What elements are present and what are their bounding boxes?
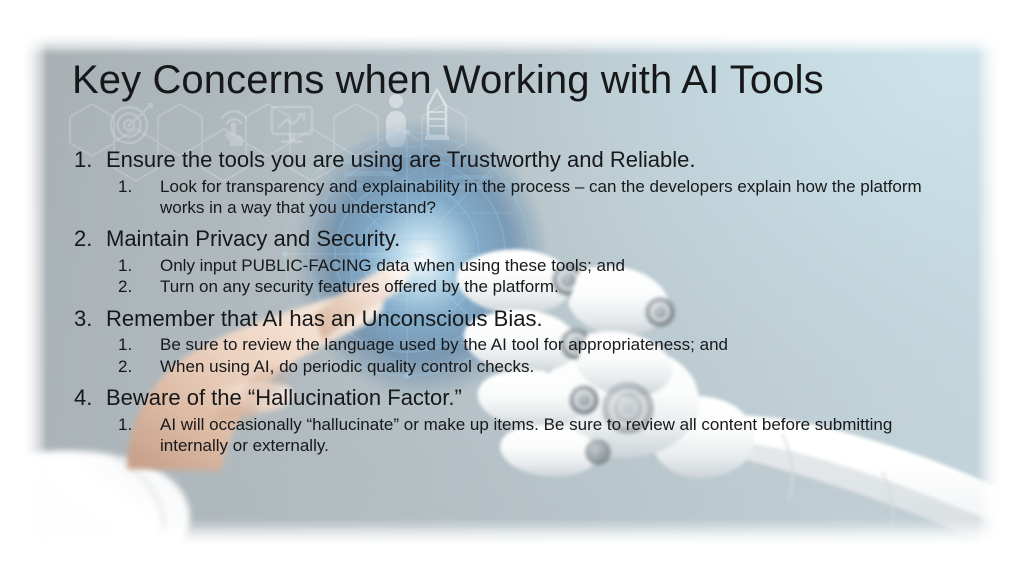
list-item-level2: 1. AI will occasionally “hallucinate” or…	[60, 414, 970, 457]
list-item-level2: 2. When using AI, do periodic quality co…	[60, 356, 970, 377]
outline-group: 2. Maintain Privacy and Security. 1. Onl…	[60, 225, 970, 297]
list-text: Ensure the tools you are using are Trust…	[106, 146, 695, 175]
list-number: 2.	[60, 356, 160, 377]
list-item-level1: 1. Ensure the tools you are using are Tr…	[60, 146, 970, 175]
list-item-level2: 1. Only input PUBLIC-FACING data when us…	[60, 255, 970, 276]
list-text: Turn on any security features offered by…	[160, 276, 559, 297]
list-number: 1.	[60, 414, 160, 435]
list-text: Maintain Privacy and Security.	[106, 225, 400, 254]
list-item-level2: 1. Look for transparency and explainabil…	[60, 176, 970, 219]
slide-text-layer: Key Concerns when Working with AI Tools …	[0, 0, 1024, 576]
list-number: 2.	[60, 225, 106, 254]
outline-group: 3. Remember that AI has an Unconscious B…	[60, 305, 970, 377]
list-number: 1.	[60, 334, 160, 355]
list-item-level2: 1. Be sure to review the language used b…	[60, 334, 970, 355]
page-title: Key Concerns when Working with AI Tools	[72, 58, 952, 103]
list-number: 2.	[60, 276, 160, 297]
outline-group: 4. Beware of the “Hallucination Factor.”…	[60, 384, 970, 456]
content-outline: 1. Ensure the tools you are using are Tr…	[60, 146, 970, 457]
list-item-level1: 2. Maintain Privacy and Security.	[60, 225, 970, 254]
list-number: 1.	[60, 255, 160, 276]
list-text: AI will occasionally “hallucinate” or ma…	[160, 414, 950, 457]
list-text: Look for transparency and explainability…	[160, 176, 950, 219]
presentation-slide: Key Concerns when Working with AI Tools …	[0, 0, 1024, 576]
list-item-level2: 2. Turn on any security features offered…	[60, 276, 970, 297]
list-number: 1.	[60, 176, 160, 197]
list-text: Only input PUBLIC-FACING data when using…	[160, 255, 625, 276]
list-text: When using AI, do periodic quality contr…	[160, 356, 534, 377]
list-item-level1: 4. Beware of the “Hallucination Factor.”	[60, 384, 970, 413]
list-number: 3.	[60, 305, 106, 334]
list-number: 1.	[60, 146, 106, 175]
list-text: Remember that AI has an Unconscious Bias…	[106, 305, 543, 334]
outline-group: 1. Ensure the tools you are using are Tr…	[60, 146, 970, 218]
list-text: Beware of the “Hallucination Factor.”	[106, 384, 462, 413]
list-item-level1: 3. Remember that AI has an Unconscious B…	[60, 305, 970, 334]
list-text: Be sure to review the language used by t…	[160, 334, 728, 355]
list-number: 4.	[60, 384, 106, 413]
